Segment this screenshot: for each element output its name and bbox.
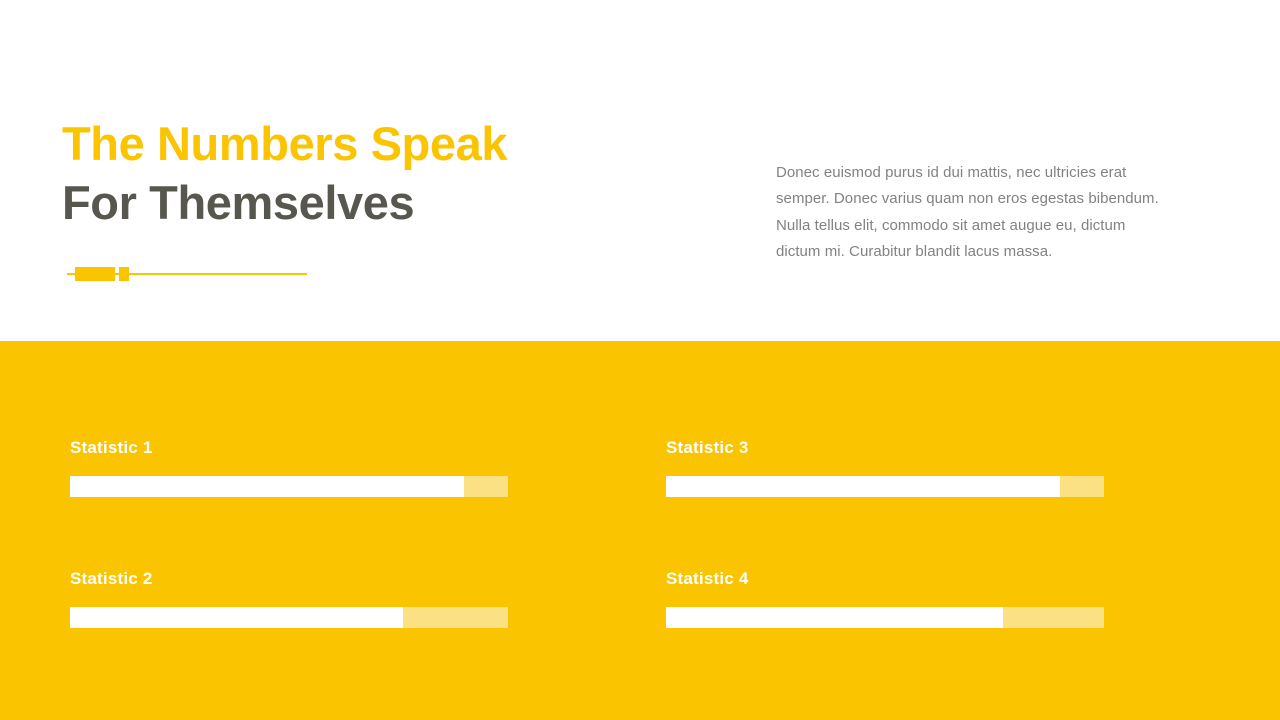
stat-label-2: Statistic 2	[70, 568, 508, 590]
header-region: The Numbers Speak For Themselves Donec e…	[0, 0, 1280, 341]
stat-item-2: Statistic 2	[70, 568, 508, 628]
title-line-primary: The Numbers Speak	[62, 114, 662, 173]
stat-progress-track-1	[70, 476, 508, 497]
statistics-region: Statistic 1 Statistic 2 Statistic 3 Stat…	[0, 341, 1280, 720]
title-divider	[67, 266, 307, 282]
title-line-secondary: For Themselves	[62, 173, 662, 232]
stat-progress-fill-2	[70, 607, 403, 628]
divider-block-large	[75, 267, 115, 281]
slide-canvas: The Numbers Speak For Themselves Donec e…	[0, 0, 1280, 720]
stat-progress-fill-4	[666, 607, 1003, 628]
stat-label-3: Statistic 3	[666, 437, 1104, 459]
stat-item-3: Statistic 3	[666, 437, 1104, 497]
stat-progress-track-3	[666, 476, 1104, 497]
divider-block-small	[119, 267, 129, 281]
stat-progress-fill-3	[666, 476, 1060, 497]
stat-item-1: Statistic 1	[70, 437, 508, 497]
stat-item-4: Statistic 4	[666, 568, 1104, 628]
intro-paragraph: Donec euismod purus id dui mattis, nec u…	[776, 160, 1164, 266]
stat-label-4: Statistic 4	[666, 568, 1104, 590]
stat-label-1: Statistic 1	[70, 437, 508, 459]
stat-progress-fill-1	[70, 476, 464, 497]
page-title: The Numbers Speak For Themselves	[62, 114, 662, 232]
stat-progress-track-4	[666, 607, 1104, 628]
stat-progress-track-2	[70, 607, 508, 628]
